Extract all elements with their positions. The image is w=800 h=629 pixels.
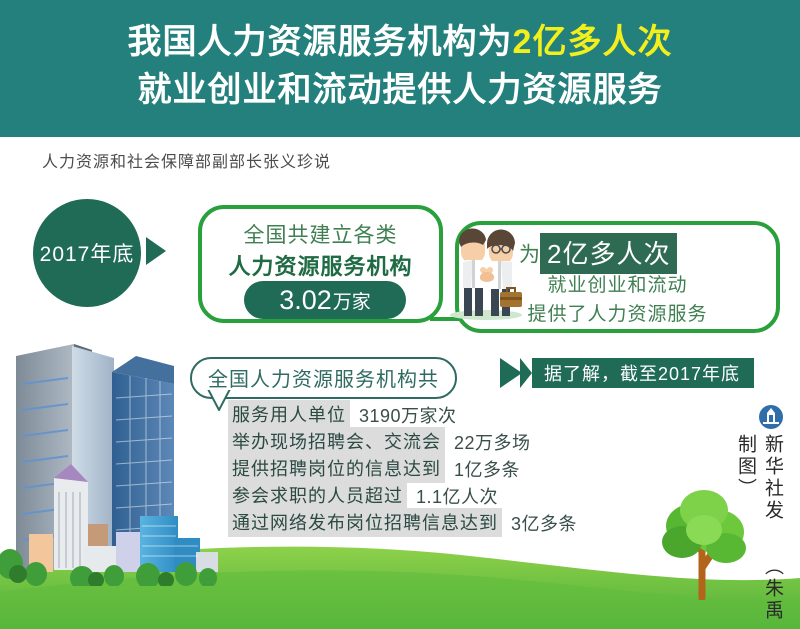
header-highlight: 2亿多人次 [513, 23, 673, 61]
city-skyline-illustration [0, 336, 220, 586]
year-badge: 2017年底 [33, 199, 141, 307]
list-item: 通过网络发布岗位招聘信息达到 3亿多条 [228, 509, 577, 536]
infographic-canvas: 我国人力资源服务机构为2亿多人次 就业创业和流动提供人力资源服务 人力资源和社会… [0, 0, 800, 629]
header-line-2: 就业创业和流动提供人力资源服务 [0, 70, 800, 110]
xinhua-logo-icon [758, 404, 784, 430]
stat-value: 22万多场 [454, 429, 531, 455]
institutions-figure-value: 3.02 [279, 287, 332, 314]
bubble-tail-icon [206, 389, 232, 411]
header-line-1-text: 我国人力资源服务机构为 [128, 23, 513, 61]
institutions-card: 全国共建立各类 人力资源服务机构 3.02 万家 [198, 205, 443, 323]
header-line-1: 我国人力资源服务机构为2亿多人次 [0, 22, 800, 62]
stat-value: 3亿多条 [511, 510, 577, 536]
list-item: 服务用人单位 3190万家次 [228, 401, 577, 428]
list-item: 参会求职的人员超过 1.1亿人次 [228, 482, 577, 509]
stats-bubble-label: 全国人力资源服务机构共 [208, 369, 439, 391]
institutions-figure-pill: 3.02 万家 [244, 281, 406, 319]
credit-block: 新华社发 （朱禹制图） [732, 434, 786, 629]
institutions-figure-unit: 万家 [333, 287, 371, 314]
stat-label: 通过网络发布岗位招聘信息达到 [228, 508, 502, 537]
stats-list: 服务用人单位 3190万家次 举办现场招聘会、交流会 22万多场 提供招聘岗位的… [228, 401, 577, 536]
stat-value: 1.1亿人次 [416, 483, 498, 509]
subtitle: 人力资源和社会保障部副部长张义珍说 [42, 148, 331, 172]
ribbon-banner: 据了解，截至2017年底 [520, 358, 754, 388]
arrow-right-icon [146, 237, 166, 265]
stat-label: 提供招聘岗位的信息达到 [228, 454, 445, 483]
header-banner: 我国人力资源服务机构为2亿多人次 就业创业和流动提供人力资源服务 [0, 0, 800, 137]
stat-value: 1亿多条 [454, 456, 520, 482]
institutions-card-line1: 全国共建立各类 [202, 219, 439, 249]
stat-label: 服务用人单位 [228, 400, 350, 429]
year-badge-label: 2017年底 [40, 238, 135, 268]
services-highlight: 2亿多人次 [540, 233, 677, 274]
ribbon-arrow-icon [500, 358, 522, 388]
ribbon-notch [520, 358, 532, 388]
stat-label: 举办现场招聘会、交流会 [228, 427, 445, 456]
handshake-people-icon [443, 218, 529, 322]
stat-label: 参会求职的人员超过 [228, 481, 407, 510]
institutions-card-line2: 人力资源服务机构 [202, 249, 439, 281]
credit-agency: 新华社发 [762, 434, 783, 522]
list-item: 提供招聘岗位的信息达到 1亿多条 [228, 455, 577, 482]
stat-value: 3190万家次 [359, 402, 457, 428]
list-item: 举办现场招聘会、交流会 22万多场 [228, 428, 577, 455]
ribbon-label: 据了解，截至2017年底 [544, 360, 740, 386]
services-card-line1: 为2亿多人次 [519, 233, 677, 274]
